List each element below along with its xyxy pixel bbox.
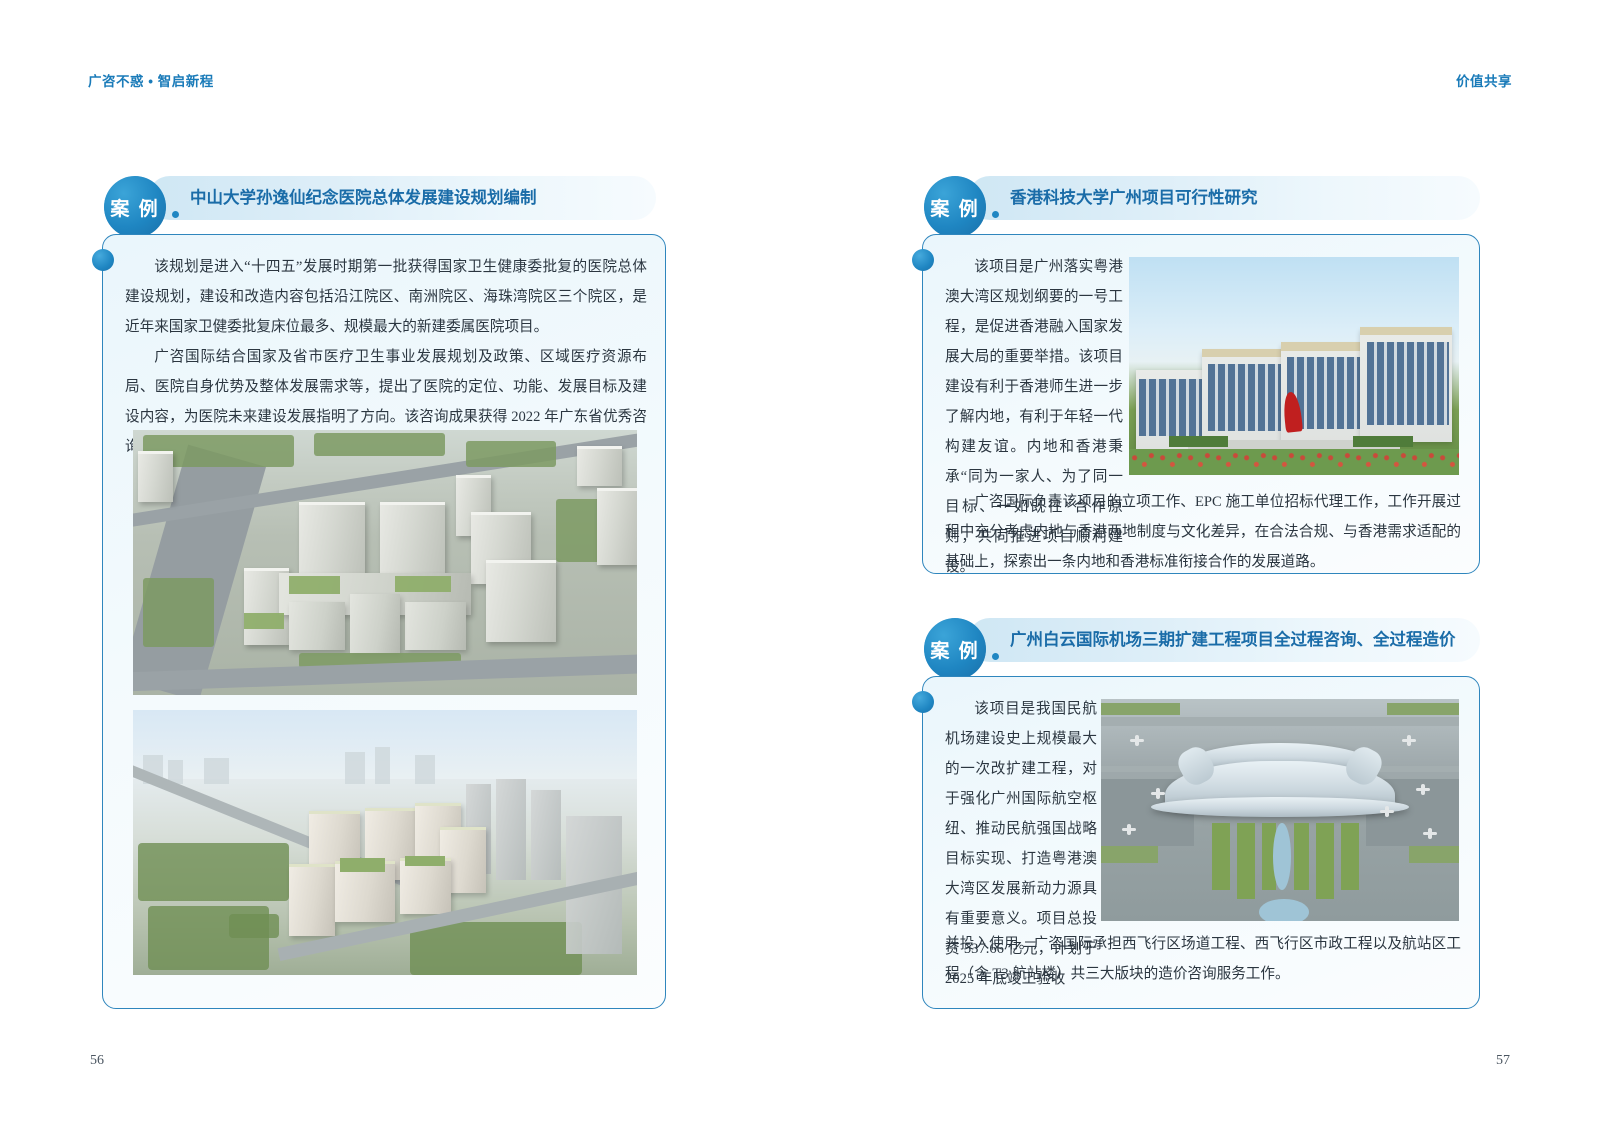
case-panel-nub-2 [912,249,934,271]
hospital-aerial-rendering-1 [133,430,637,695]
case-3-paragraph-2: 并投入使用。广咨国际承担西飞行区场道工程、西飞行区市政工程以及航站区工程（含 T… [945,929,1461,989]
case-1-paragraph-1: 该规划是进入“十四五”发展时期第一批获得国家卫生健康委批复的医院总体建设规划，建… [125,252,647,342]
case-2-body-bottom: 广咨国际负责该项目的立项工作、EPC 施工单位招标代理工作，工作开展过程中充分考… [945,487,1461,577]
case-header-1: 案 例 中山大学孙逸仙纪念医院总体发展建设规划编制 [96,176,656,220]
running-head-left: 广咨不惑 • 智启新程 [88,70,214,90]
case-badge-3: 案 例 [924,618,986,680]
hospital-aerial-rendering-2 [133,710,637,975]
case-panel-3: 该项目是我国民航机场建设史上规模最大的一次改扩建工程，对于强化广州国际航空枢纽、… [922,676,1480,1009]
case-badge-2: 案 例 [924,176,986,238]
hkust-guangzhou-campus-photo [1129,257,1459,475]
case-panel-nub-1 [92,249,114,271]
case-2-paragraph-2: 广咨国际负责该项目的立项工作、EPC 施工单位招标代理工作，工作开展过程中充分考… [945,487,1461,577]
case-panel-2: 该项目是广州落实粤港澳大湾区规划纲要的一号工程，是促进香港融入国家发展大局的重要… [922,234,1480,574]
case-title-2: 香港科技大学广州项目可行性研究 [1010,176,1258,220]
running-head-right: 价值共享 [1456,70,1512,90]
page-number-right: 57 [1496,1053,1510,1069]
case-title-3: 广州白云国际机场三期扩建工程项目全过程咨询、全过程造价 [1010,618,1456,662]
case-header-2: 案 例 香港科技大学广州项目可行性研究 [916,176,1480,220]
baiyun-airport-t3-rendering [1101,699,1459,921]
case-badge-dot-3 [992,653,999,660]
case-title-1: 中山大学孙逸仙纪念医院总体发展建设规划编制 [190,176,537,220]
case-panel-nub-3 [912,691,934,713]
case-header-3: 案 例 广州白云国际机场三期扩建工程项目全过程咨询、全过程造价 [916,618,1480,662]
case-badge-1: 案 例 [104,176,166,238]
case-badge-dot-1 [172,211,179,218]
case-badge-dot-2 [992,211,999,218]
page-number-left: 56 [90,1053,104,1069]
case-3-body-bottom: 并投入使用。广咨国际承担西飞行区场道工程、西飞行区市政工程以及航站区工程（含 T… [945,929,1461,989]
case-panel-1: 该规划是进入“十四五”发展时期第一批获得国家卫生健康委批复的医院总体建设规划，建… [102,234,666,1009]
